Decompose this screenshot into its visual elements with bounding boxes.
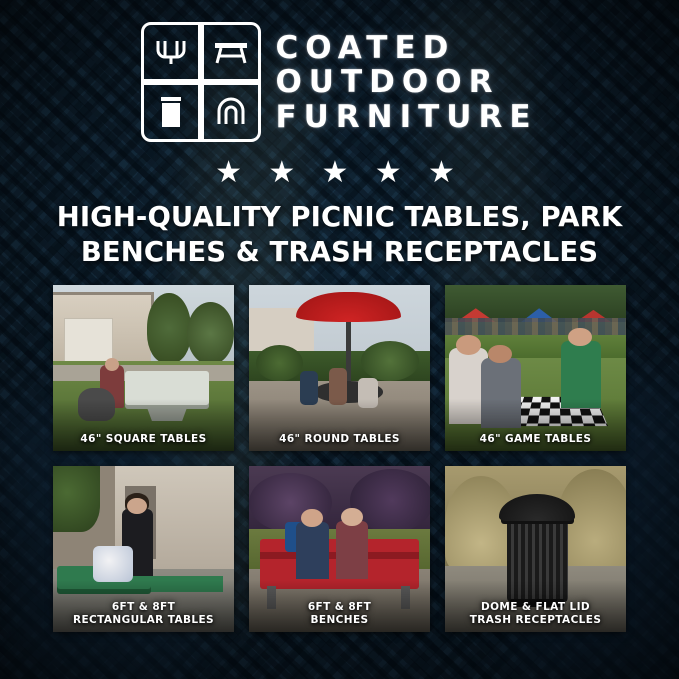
- logo-line-1: COATED: [275, 33, 537, 65]
- logo-line-3: FURNITURE: [275, 102, 537, 134]
- arch-bench-icon: [201, 82, 261, 142]
- tile-caption: 6FT & 8FT RECTANGULAR TABLES: [53, 601, 234, 626]
- poster-image: COATED OUTDOOR FURNITURE ★ ★ ★ ★ ★ HIGH-…: [0, 0, 679, 679]
- gallery-tile-rectangular-tables: 6FT & 8FT RECTANGULAR TABLES: [53, 466, 234, 632]
- logo-wordmark: COATED OUTDOOR FURNITURE: [275, 31, 537, 134]
- tile-caption: 46" GAME TABLES: [445, 433, 626, 445]
- gallery-tile-square-tables: 46" SQUARE TABLES: [53, 285, 234, 451]
- picnic-table-icon: [201, 22, 261, 82]
- gallery-tile-trash-receptacles: DOME & FLAT LID TRASH RECEPTACLES: [445, 466, 626, 632]
- trash-receptacle-icon: [141, 82, 201, 142]
- bench-bracket-icon: [141, 22, 201, 82]
- star-rating: ★ ★ ★ ★ ★: [0, 158, 679, 188]
- logo-line-2: OUTDOOR: [275, 67, 537, 99]
- tile-caption: DOME & FLAT LID TRASH RECEPTACLES: [445, 601, 626, 626]
- gallery-tile-game-tables: 46" GAME TABLES: [445, 285, 626, 451]
- product-gallery-grid: 46" SQUARE TABLES 46" ROUND TABLES: [53, 285, 626, 632]
- gallery-tile-benches: 6FT & 8FT BENCHES: [249, 466, 430, 632]
- brand-logo: COATED OUTDOOR FURNITURE: [0, 22, 679, 142]
- gallery-tile-round-tables: 46" ROUND TABLES: [249, 285, 430, 451]
- logo-mark: [141, 22, 261, 142]
- tile-caption: 6FT & 8FT BENCHES: [249, 601, 430, 626]
- headline-line-1: HIGH-QUALITY PICNIC TABLES, PARK: [40, 200, 639, 235]
- tile-caption: 46" SQUARE TABLES: [53, 433, 234, 445]
- page-title: HIGH-QUALITY PICNIC TABLES, PARK BENCHES…: [40, 200, 639, 270]
- headline-line-2: BENCHES & TRASH RECEPTACLES: [40, 235, 639, 270]
- tile-caption: 46" ROUND TABLES: [249, 433, 430, 445]
